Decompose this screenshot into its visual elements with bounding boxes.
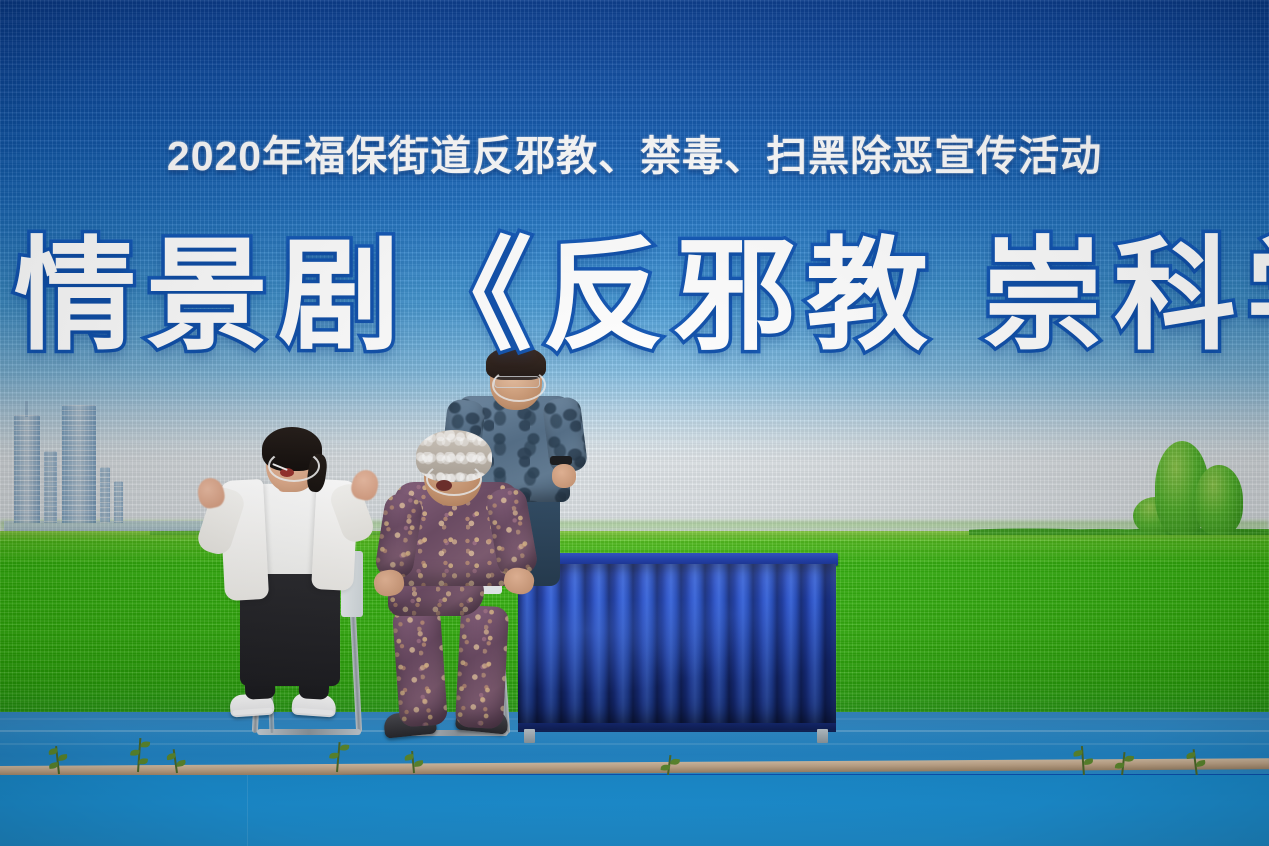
floral-trouser-left xyxy=(392,606,448,727)
performer-granny-character xyxy=(380,440,570,740)
headset-mic-icon xyxy=(492,368,546,402)
event-subtitle: 2020年福保街道反邪教、禁毒、扫黑除恶宣传活动 xyxy=(0,122,1269,182)
city-skyline-graphic xyxy=(4,396,214,531)
stage-front-panel xyxy=(0,775,1269,846)
table-leg-right xyxy=(817,729,828,743)
performer-woman-white xyxy=(196,432,396,742)
stage-performance-photo: 2020年福保街道反邪教、禁毒、扫黑除恶宣传活动 情景剧《反邪教 崇科学 xyxy=(0,0,1269,846)
floral-trouser-right xyxy=(455,605,509,729)
tree-medium-icon xyxy=(1191,463,1247,535)
headset-mic-icon xyxy=(426,462,482,496)
performance-main-title: 情景剧《反邪教 崇科学 xyxy=(14,232,1269,360)
